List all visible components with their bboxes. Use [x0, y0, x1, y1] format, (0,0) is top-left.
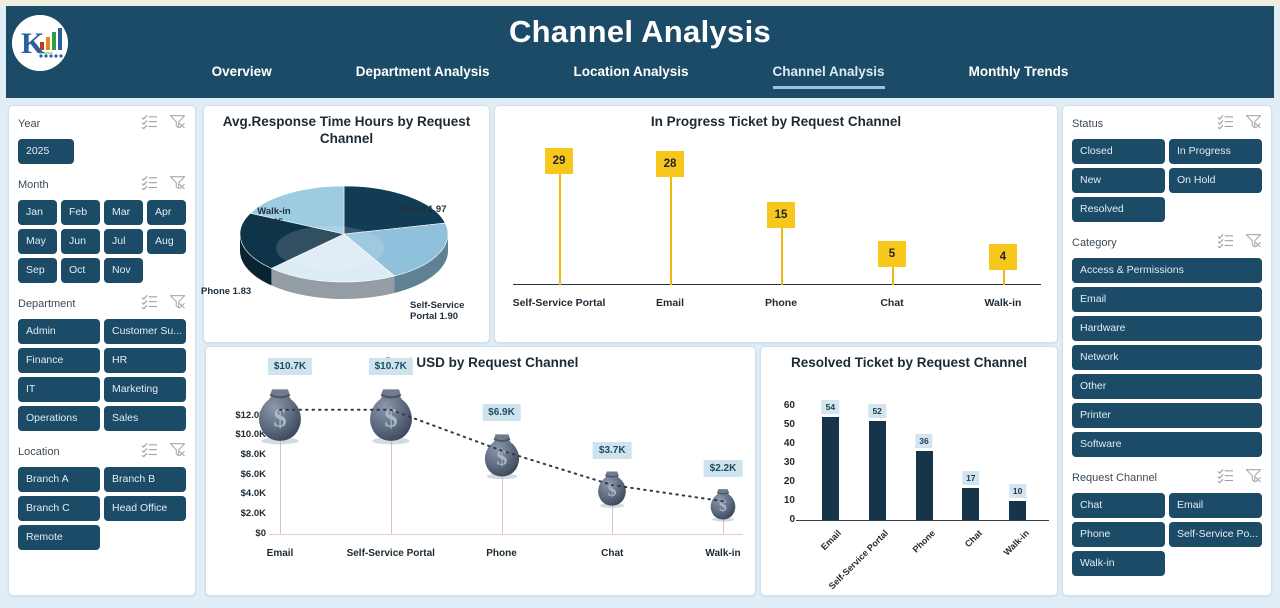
pie-label-walk-in: Walk-in 1.65 — [238, 206, 310, 228]
filter-chip-apr[interactable]: Apr — [147, 200, 186, 225]
resolved-bar[interactable] — [869, 421, 886, 520]
filter-group-header: Request Channel — [1072, 468, 1262, 487]
lollipop-chart-title: In Progress Ticket by Request Channel — [495, 106, 1057, 131]
svg-text:$: $ — [496, 446, 507, 470]
filter-chip-may[interactable]: May — [18, 229, 57, 254]
in-progress-ticket-panel: In Progress Ticket by Request Channel 29… — [494, 105, 1058, 343]
resolved-chart-title: Resolved Ticket by Request Channel — [761, 347, 1057, 372]
filter-chip-chat[interactable]: Chat — [1072, 493, 1165, 518]
filter-chip-sep[interactable]: Sep — [18, 258, 57, 283]
multi-select-icon — [1217, 233, 1234, 248]
multi-select-icon[interactable] — [141, 114, 158, 134]
filter-chip-feb[interactable]: Feb — [61, 200, 100, 225]
lollipop-stem — [559, 161, 561, 285]
lollipop-item[interactable]: 29Self-Service Portal — [559, 161, 560, 285]
resolved-value-badge: 52 — [868, 404, 885, 418]
filter-chip-customer-su[interactable]: Customer Su... — [104, 319, 186, 344]
filter-group-title: Department — [18, 298, 75, 310]
svg-text:$: $ — [719, 498, 727, 515]
filter-chip-marketing[interactable]: Marketing — [104, 377, 186, 402]
filter-chip-hardware[interactable]: Hardware — [1072, 316, 1262, 341]
money-bag-icon: $ — [364, 384, 418, 449]
lollipop-item[interactable]: 5Chat — [892, 254, 893, 285]
filter-chip-2025[interactable]: 2025 — [18, 139, 74, 164]
filter-group-actions — [1217, 468, 1262, 488]
clear-filter-icon — [169, 114, 186, 129]
lollipop-value-badge: 15 — [767, 202, 795, 228]
filter-chip-jun[interactable]: Jun — [61, 229, 100, 254]
clear-filter-icon[interactable] — [169, 175, 186, 195]
filter-chip-list: Branch ABranch BBranch CHead OfficeRemot… — [18, 467, 186, 550]
multi-select-icon[interactable] — [1217, 114, 1234, 134]
clear-filter-icon — [169, 175, 186, 190]
cost-value-badge: $2.2K — [704, 460, 743, 477]
filter-group-title: Category — [1072, 237, 1117, 249]
filter-chip-closed[interactable]: Closed — [1072, 139, 1165, 164]
filter-group-actions — [141, 175, 186, 195]
filter-group-title: Status — [1072, 118, 1103, 130]
filter-chip-software[interactable]: Software — [1072, 432, 1262, 457]
resolved-value-badge: 17 — [962, 471, 979, 485]
filter-chip-head-office[interactable]: Head Office — [104, 496, 186, 521]
filter-chip-email[interactable]: Email — [1169, 493, 1262, 518]
filter-chip-branch-c[interactable]: Branch C — [18, 496, 100, 521]
filter-chip-list: Access & PermissionsEmailHardwareNetwork… — [1072, 258, 1262, 457]
filter-chip-email[interactable]: Email — [1072, 287, 1262, 312]
svg-text:$: $ — [384, 403, 397, 433]
pie-label-phone: Phone 1.83 — [201, 286, 275, 297]
left-filter-sidebar: Year 2025Month JanFebMarAprMayJunJulAugS… — [8, 105, 196, 596]
resolved-value-badge: 36 — [915, 434, 932, 448]
resolved-bar[interactable] — [916, 451, 933, 520]
filter-chip-finance[interactable]: Finance — [18, 348, 100, 373]
multi-select-icon — [141, 175, 158, 190]
filter-group-title: Month — [18, 179, 49, 191]
filter-group-actions — [1217, 233, 1262, 253]
multi-select-icon[interactable] — [141, 175, 158, 195]
filter-chip-jan[interactable]: Jan — [18, 200, 57, 225]
cost-y-tick: $0 — [210, 528, 266, 539]
multi-select-icon[interactable] — [141, 294, 158, 314]
lollipop-category-label: Walk-in — [923, 297, 1083, 309]
clear-filter-icon[interactable] — [1245, 468, 1262, 488]
lollipop-value-badge: 28 — [656, 151, 684, 177]
lollipop-value-badge: 29 — [545, 148, 573, 174]
clear-filter-icon — [1245, 233, 1262, 248]
tab-location-analysis[interactable]: Location Analysis — [574, 64, 689, 89]
resolved-y-tick: 0 — [769, 514, 795, 525]
multi-select-icon[interactable] — [1217, 233, 1234, 253]
tab-overview[interactable]: Overview — [212, 64, 272, 89]
tab-department-analysis[interactable]: Department Analysis — [356, 64, 490, 89]
lollipop-chart: 29Self-Service Portal28Email15Phone5Chat… — [495, 131, 1057, 331]
pie-label-email: Email 1.97 — [400, 204, 486, 215]
multi-select-icon — [1217, 114, 1234, 129]
filter-chip-walk-in[interactable]: Walk-in — [1072, 551, 1165, 576]
filter-chip-other[interactable]: Other — [1072, 374, 1262, 399]
filter-group-category: Category Access & PermissionsEmailHardwa… — [1072, 233, 1262, 457]
filter-group-header: Status — [1072, 114, 1262, 133]
filter-group-title: Request Channel — [1072, 472, 1157, 484]
filter-chip-sales[interactable]: Sales — [104, 406, 186, 431]
resolved-baseline — [796, 520, 1049, 522]
right-filter-sidebar: Status ClosedIn ProgressNewOn HoldResolv… — [1062, 105, 1272, 596]
cost-y-tick: $4.0K — [210, 488, 266, 499]
filter-chip-admin[interactable]: Admin — [18, 319, 100, 344]
money-bag-icon: $ — [253, 384, 307, 449]
multi-select-icon — [141, 442, 158, 457]
filter-group-department: Department AdminCustomer Su...FinanceHRI… — [18, 294, 186, 431]
money-bag-icon: $ — [594, 468, 630, 513]
resolved-value-badge: 10 — [1009, 484, 1026, 498]
resolved-value-badge: 54 — [822, 400, 839, 414]
clear-filter-icon — [1245, 114, 1262, 129]
filter-group-request-channel: Request Channel ChatEmailPhoneSelf-Servi… — [1072, 468, 1262, 576]
filter-group-title: Year — [18, 118, 40, 130]
filter-group-header: Category — [1072, 233, 1262, 252]
multi-select-icon[interactable] — [1217, 468, 1234, 488]
filter-chip-hr[interactable]: HR — [104, 348, 186, 373]
filter-group-actions — [1217, 114, 1262, 134]
resolved-bar[interactable] — [962, 488, 979, 520]
pie-label-self-service-portal: Self-Service Portal 1.90 — [410, 300, 486, 322]
filter-chip-list: ClosedIn ProgressNewOn HoldResolved — [1072, 139, 1262, 222]
filter-chip-operations[interactable]: Operations — [18, 406, 100, 431]
clear-filter-icon — [169, 294, 186, 309]
filter-chip-branch-b[interactable]: Branch B — [104, 467, 186, 492]
clear-filter-icon[interactable] — [1245, 114, 1262, 134]
cost-value-badge: $10.7K — [369, 358, 413, 375]
filter-group-year: Year 2025 — [18, 114, 186, 164]
cost-value-badge: $10.7K — [268, 358, 312, 375]
clear-filter-icon[interactable] — [169, 442, 186, 462]
filter-chip-phone[interactable]: Phone — [1072, 522, 1165, 547]
filter-chip-printer[interactable]: Printer — [1072, 403, 1262, 428]
lollipop-item[interactable]: 28Email — [670, 164, 671, 285]
resolved-y-tick: 30 — [769, 457, 795, 468]
svg-text:Analytics: Analytics — [39, 51, 53, 55]
resolved-bar-chart: 605040302010054Email52Self-Service Porta… — [761, 372, 1057, 590]
app-header: K Analytics Channel Analysis OverviewDep… — [6, 6, 1274, 98]
resolved-y-tick: 20 — [769, 476, 795, 487]
cost-y-tick: $2.0K — [210, 508, 266, 519]
filter-chip-list: AdminCustomer Su...FinanceHRITMarketingO… — [18, 319, 186, 431]
filter-chip-remote[interactable]: Remote — [18, 525, 100, 550]
multi-select-icon — [1217, 468, 1234, 483]
filter-group-header: Department — [18, 294, 186, 313]
lollipop-value-badge: 5 — [878, 241, 906, 267]
lollipop-item[interactable]: 15Phone — [781, 215, 782, 285]
tab-channel-analysis[interactable]: Channel Analysis — [773, 64, 885, 89]
multi-select-icon — [141, 114, 158, 129]
filter-chip-mar[interactable]: Mar — [104, 200, 143, 225]
resolved-y-tick: 40 — [769, 438, 795, 449]
filter-chip-new[interactable]: New — [1072, 168, 1165, 193]
money-bag-icon: $ — [707, 486, 739, 527]
filter-chip-self-service-po[interactable]: Self-Service Po... — [1169, 522, 1262, 547]
dashboard-root: K Analytics Channel Analysis OverviewDep… — [0, 0, 1280, 608]
pie-chart-title: Avg.Response Time Hours by Request Chann… — [204, 106, 489, 148]
filter-chip-access-permissions[interactable]: Access & Permissions — [1072, 258, 1262, 283]
filter-group-actions — [141, 294, 186, 314]
filter-group-actions — [141, 442, 186, 462]
lollipop-item[interactable]: 4Walk-in — [1003, 257, 1004, 285]
resolved-ticket-panel: Resolved Ticket by Request Channel 60504… — [760, 346, 1058, 596]
filter-group-location: Location Branch ABranch BBranch CHead Of… — [18, 442, 186, 550]
filter-chip-in-progress[interactable]: In Progress — [1169, 139, 1262, 164]
page-title: Channel Analysis — [6, 14, 1274, 50]
clear-filter-icon[interactable] — [169, 114, 186, 134]
filter-group-month: Month JanFebMarAprMayJunJulAugSepOctNov — [18, 175, 186, 283]
clear-filter-icon — [169, 442, 186, 457]
multi-select-icon — [141, 294, 158, 309]
main-nav: OverviewDepartment AnalysisLocation Anal… — [6, 64, 1274, 98]
cost-value-badge: $3.7K — [593, 442, 632, 459]
svg-text:$: $ — [608, 480, 617, 500]
filter-chip-it[interactable]: IT — [18, 377, 100, 402]
cost-pictograph-chart: $12.0K$10.0K$8.0K$6.0K$4.0K$2.0K$0 $ $10… — [206, 372, 755, 588]
resolved-y-tick: 10 — [769, 495, 795, 506]
lollipop-value-badge: 4 — [989, 244, 1017, 270]
filter-group-header: Location — [18, 442, 186, 461]
lollipop-stem — [670, 164, 672, 285]
tab-monthly-trends[interactable]: Monthly Trends — [969, 64, 1069, 89]
cost-baseline — [269, 534, 743, 535]
cost-y-tick: $8.0K — [210, 449, 266, 460]
resolved-y-tick: 60 — [769, 400, 795, 411]
filter-group-header: Month — [18, 175, 186, 194]
clear-filter-icon — [1245, 468, 1262, 483]
filter-chip-on-hold[interactable]: On Hold — [1169, 168, 1262, 193]
filter-chip-network[interactable]: Network — [1072, 345, 1262, 370]
clear-filter-icon[interactable] — [169, 294, 186, 314]
resolved-y-tick: 50 — [769, 419, 795, 430]
avg-response-time-pie-panel: Avg.Response Time Hours by Request Chann… — [203, 105, 490, 343]
filter-chip-list: 2025 — [18, 139, 186, 164]
cost-y-tick: $6.0K — [210, 469, 266, 480]
cost-value-badge: $6.9K — [482, 404, 521, 421]
filter-chip-aug[interactable]: Aug — [147, 229, 186, 254]
money-bag-icon: $ — [479, 430, 523, 484]
filter-chip-list: JanFebMarAprMayJunJulAugSepOctNov — [18, 200, 186, 283]
filter-group-status: Status ClosedIn ProgressNewOn HoldResolv… — [1072, 114, 1262, 222]
filter-chip-jul[interactable]: Jul — [104, 229, 143, 254]
filter-chip-list: ChatEmailPhoneSelf-Service Po...Walk-in — [1072, 493, 1262, 576]
multi-select-icon[interactable] — [141, 442, 158, 462]
pie-chart: Email 1.97Self-Service Portal 1.90Chat 1… — [204, 148, 489, 326]
filter-chip-nov[interactable]: Nov — [104, 258, 143, 283]
lollipop-baseline — [513, 284, 1041, 285]
clear-filter-icon[interactable] — [1245, 233, 1262, 253]
resolved-bar[interactable] — [822, 417, 839, 520]
filter-group-title: Location — [18, 446, 60, 458]
filter-group-header: Year — [18, 114, 186, 133]
resolved-bar[interactable] — [1009, 501, 1026, 520]
svg-text:$: $ — [273, 403, 286, 433]
filter-chip-branch-a[interactable]: Branch A — [18, 467, 100, 492]
filter-chip-oct[interactable]: Oct — [61, 258, 100, 283]
filter-chip-resolved[interactable]: Resolved — [1072, 197, 1165, 222]
filter-group-actions — [141, 114, 186, 134]
cost-usd-panel: Cost USD by Request Channel $12.0K$10.0K… — [205, 346, 756, 596]
